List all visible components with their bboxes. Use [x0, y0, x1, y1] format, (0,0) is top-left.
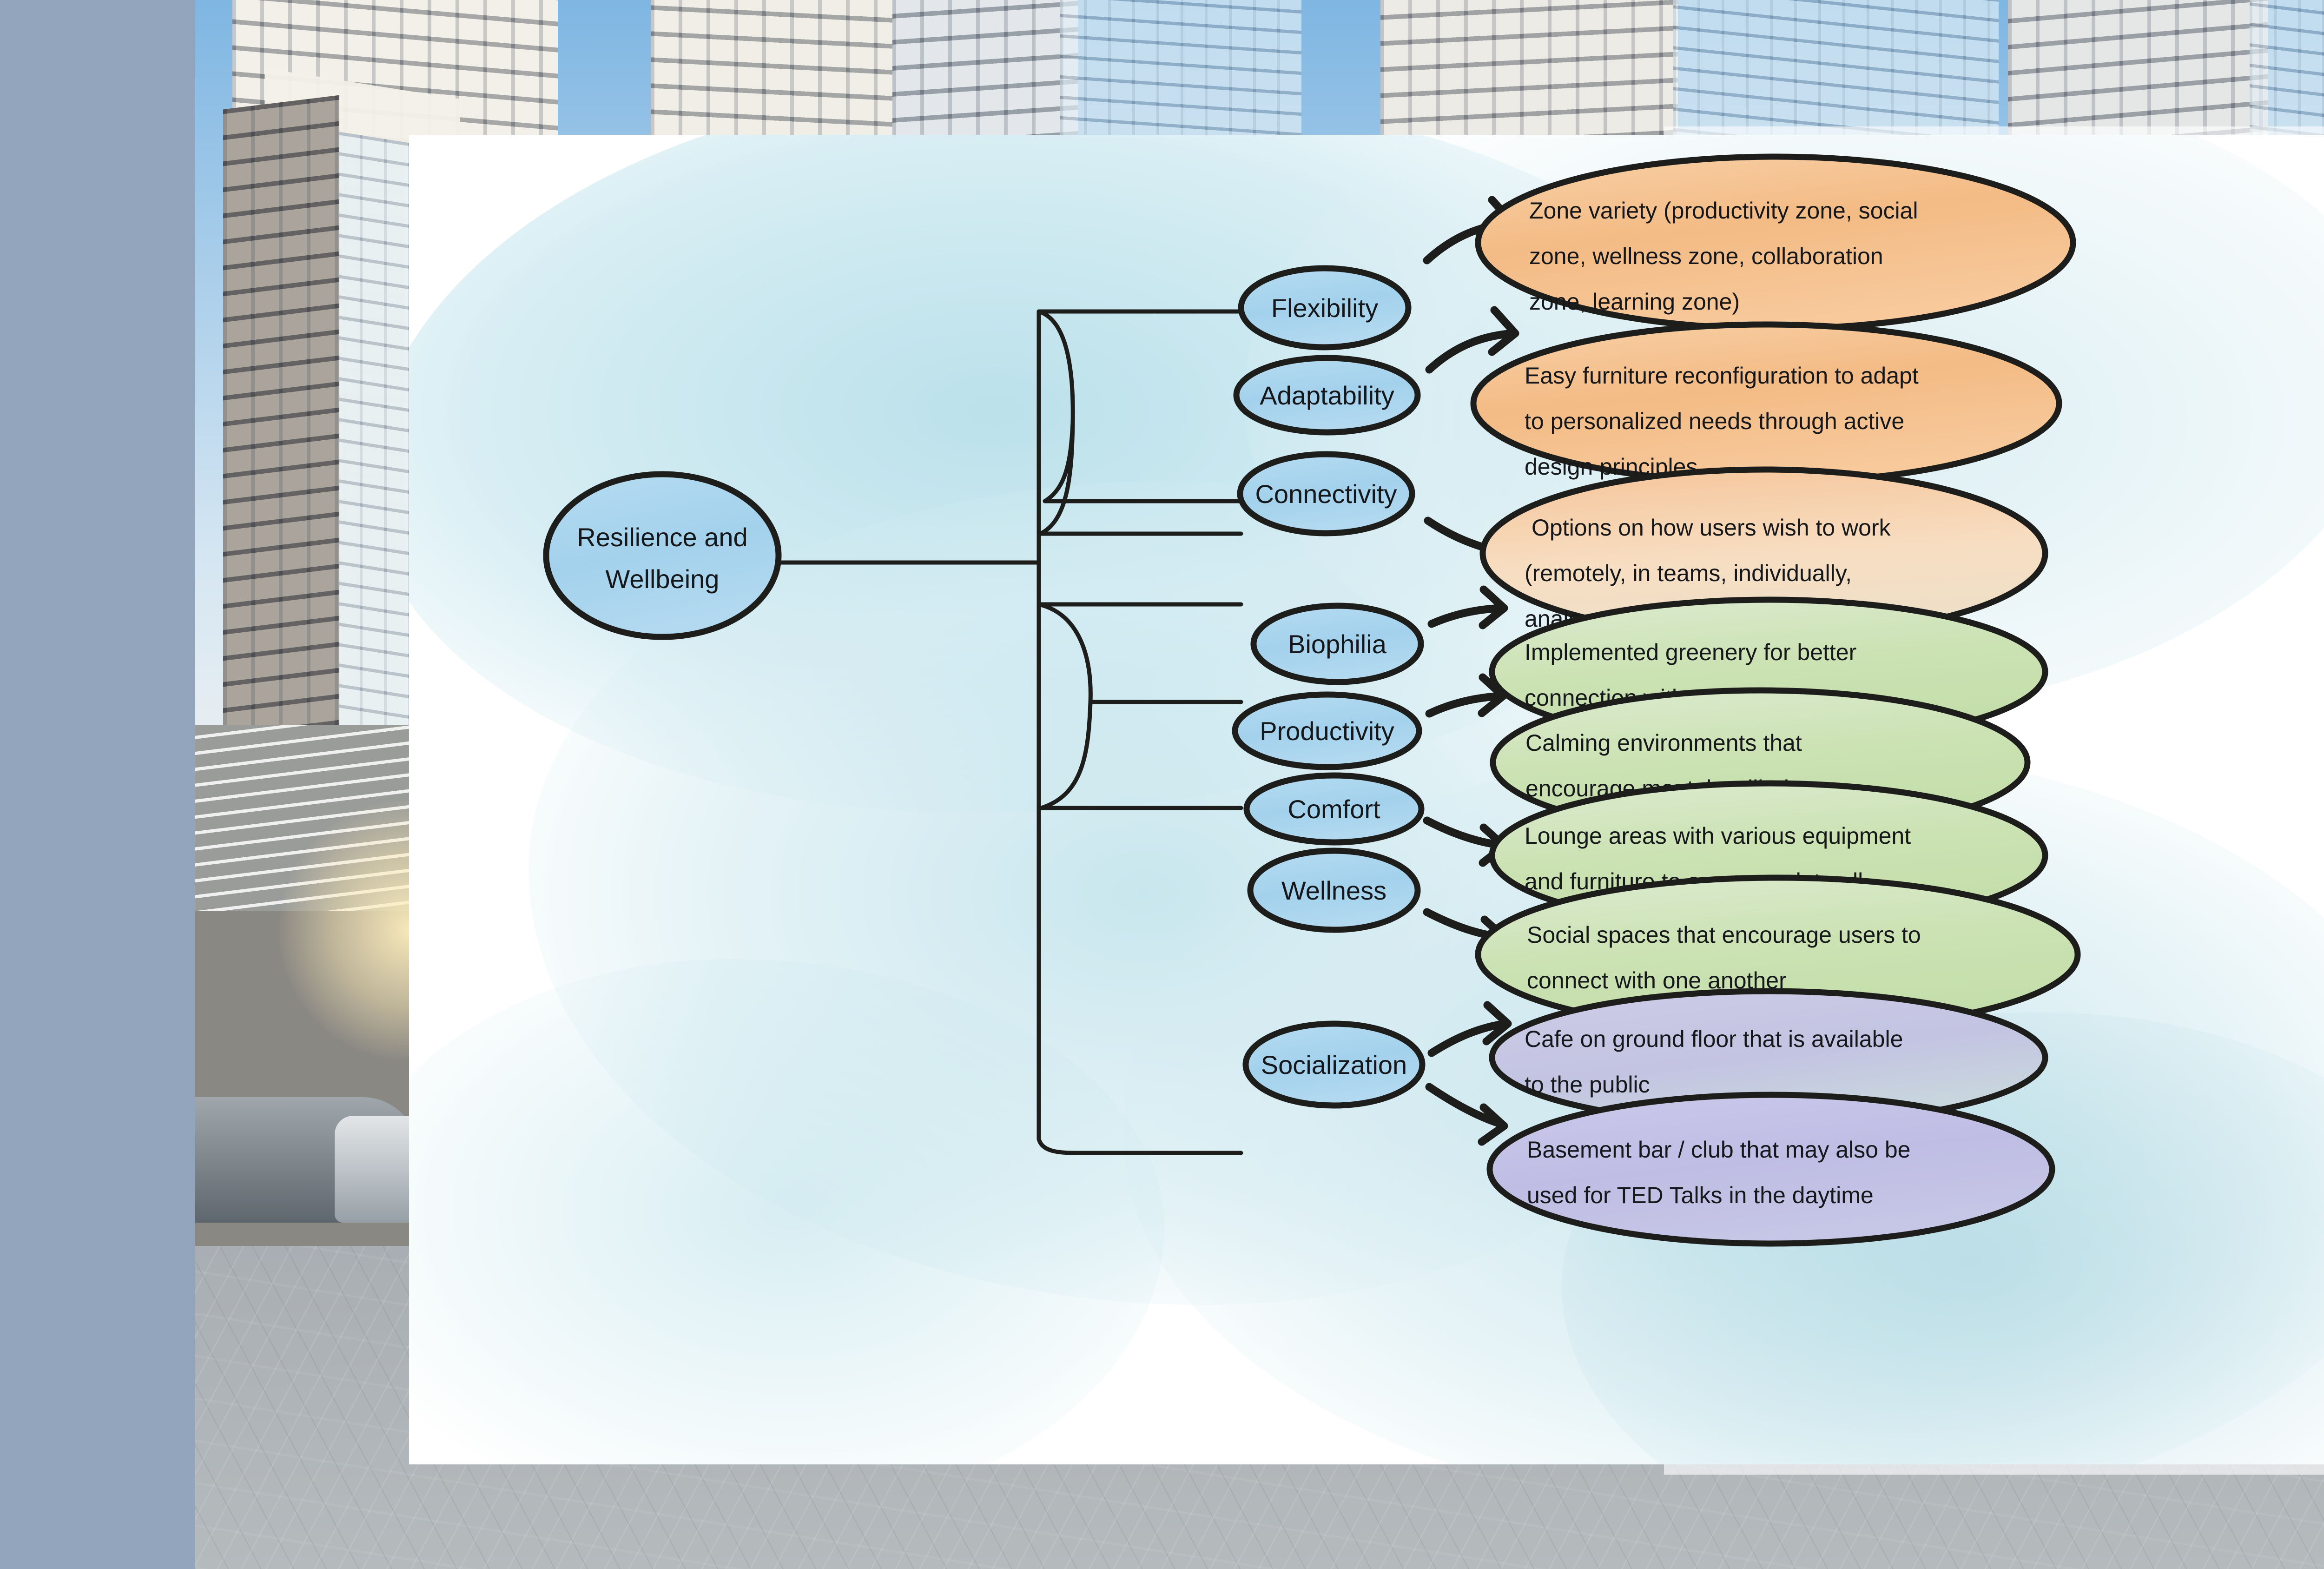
root-label-line1: Resilience and: [577, 523, 747, 552]
leaf-basement-bar[interactable]: Basement bar / club that may also be use…: [1490, 1095, 2052, 1244]
slide-canvas: .ln{fill:none;stroke:#1d1d1b;stroke-widt…: [0, 0, 2324, 1569]
leaf-furniture-reconfiguration[interactable]: Easy furniture reconfiguration to adapt …: [1473, 324, 2059, 483]
leaf-line-1-1: to personalized needs through active: [1525, 408, 1904, 434]
node-label-biophilia: Biophilia: [1288, 629, 1387, 659]
leaf-line-7-1: to the public: [1525, 1072, 1650, 1098]
building-left-dark: [223, 95, 339, 784]
node-socialization[interactable]: Socialization: [1246, 1024, 1422, 1106]
leaf-line-2-1: (remotely, in teams, individually,: [1525, 560, 1852, 586]
node-label-socialization: Socialization: [1261, 1050, 1407, 1079]
root-label-line2: Wellbeing: [606, 564, 720, 594]
leaf-line-6-0: Social spaces that encourage users to: [1527, 922, 1921, 948]
node-wellness[interactable]: Wellness: [1250, 851, 1418, 930]
leaf-line-4-0: Calming environments that: [1525, 730, 1802, 756]
leaf-line-8-1: used for TED Talks in the daytime: [1527, 1182, 1874, 1208]
leaf-line-7-0: Cafe on ground floor that is available: [1525, 1026, 1903, 1052]
leaf-line-5-0: Lounge areas with various equipment: [1525, 823, 1911, 849]
node-productivity[interactable]: Productivity: [1235, 695, 1419, 767]
leaf-line-2-0: Options on how users wish to work: [1532, 515, 1891, 541]
connector-lines: [777, 311, 1241, 1153]
node-flexibility[interactable]: Flexibility: [1241, 268, 1408, 347]
leaf-line-1-0: Easy furniture reconfiguration to adapt: [1525, 363, 1919, 389]
node-label-comfort: Comfort: [1287, 794, 1380, 824]
node-adaptability[interactable]: Adaptability: [1236, 358, 1418, 432]
node-connectivity[interactable]: Connectivity: [1240, 454, 1412, 533]
left-accent-bar: [0, 0, 195, 1569]
node-comfort[interactable]: Comfort: [1247, 775, 1421, 842]
leaf-line-0-2: zone, learning zone): [1529, 289, 1740, 315]
node-label-productivity: Productivity: [1260, 716, 1394, 746]
diagram-panel: .ln{fill:none;stroke:#1d1d1b;stroke-widt…: [409, 135, 2324, 1464]
node-label-flexibility: Flexibility: [1271, 293, 1378, 323]
leaf-line-3-0: Implemented greenery for better: [1525, 639, 1856, 665]
mind-map-diagram: .ln{fill:none;stroke:#1d1d1b;stroke-widt…: [409, 135, 2324, 1464]
node-root[interactable]: Resilience and Wellbeing: [546, 474, 779, 637]
leaf-line-0-0: Zone variety (productivity zone, social: [1529, 198, 1918, 224]
node-label-connectivity: Connectivity: [1255, 479, 1397, 509]
leaf-zone-variety[interactable]: Zone variety (productivity zone, social …: [1478, 157, 2073, 329]
arrow-icon-2: [1429, 333, 1513, 370]
leaf-line-8-0: Basement bar / club that may also be: [1527, 1137, 1910, 1163]
node-label-wellness: Wellness: [1281, 876, 1386, 905]
node-label-adaptability: Adaptability: [1260, 381, 1394, 410]
node-biophilia[interactable]: Biophilia: [1254, 606, 1421, 682]
leaf-line-0-1: zone, wellness zone, collaboration: [1529, 243, 1883, 269]
